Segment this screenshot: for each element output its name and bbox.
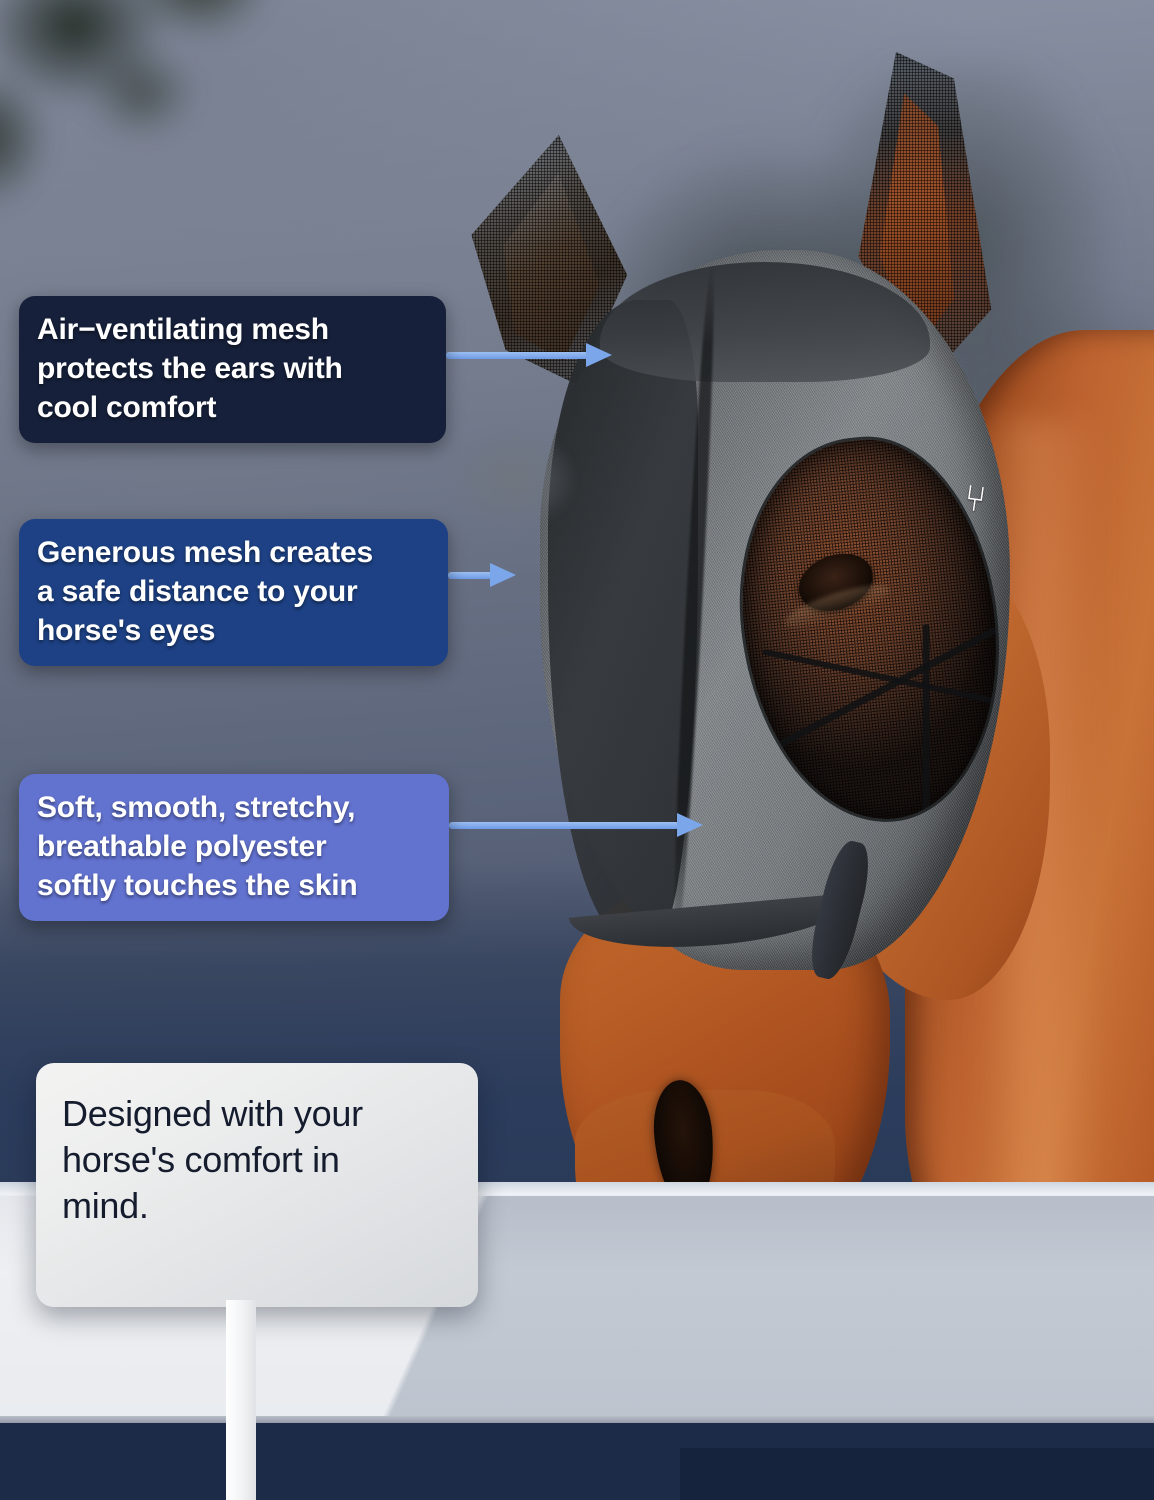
callout-line: a safe distance to your	[37, 572, 430, 611]
sign-line: mind.	[62, 1183, 452, 1229]
background-foliage	[0, 0, 410, 270]
callout-line: horse's eyes	[37, 611, 430, 650]
lawn-sign-post	[226, 1300, 256, 1500]
mesh-strut-vertical	[923, 625, 930, 815]
callout-soft-polyester[interactable]: Soft, smooth, stretchy, breathable polye…	[19, 774, 449, 921]
callout-line: Generous mesh creates	[37, 533, 430, 572]
callout-line: softly touches the skin	[37, 866, 431, 905]
lawn-sign-board[interactable]: Designed with your horse's comfort in mi…	[36, 1063, 478, 1307]
sign-line: Designed with your	[62, 1091, 452, 1137]
product-infographic: ⑂ Air−ventilating mesh protects the ears…	[0, 0, 1154, 1500]
callout-line: cool comfort	[37, 388, 428, 427]
callout-line: breathable polyester	[37, 827, 431, 866]
callout-line: protects the ears with	[37, 349, 428, 388]
callout-air-ventilating-mesh[interactable]: Air−ventilating mesh protects the ears w…	[19, 296, 446, 443]
callout-generous-mesh[interactable]: Generous mesh creates a safe distance to…	[19, 519, 448, 666]
sign-line: horse's comfort in	[62, 1137, 452, 1183]
callout-line: Soft, smooth, stretchy,	[37, 788, 431, 827]
callout-line: Air−ventilating mesh	[37, 310, 428, 349]
bottom-color-band-dark	[680, 1448, 1154, 1500]
